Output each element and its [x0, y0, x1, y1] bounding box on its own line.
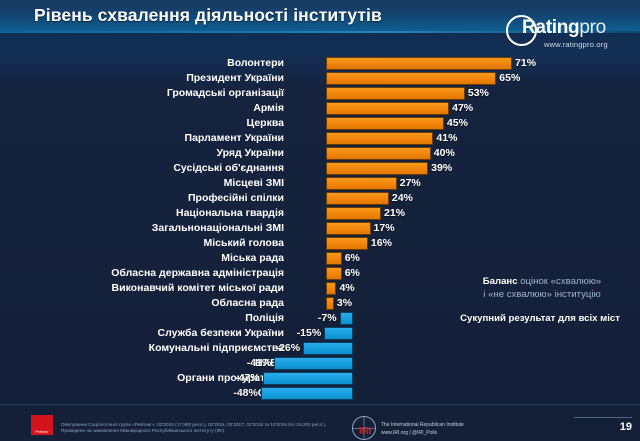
value-label: 40% [434, 146, 455, 160]
chart-row: Служба безпеки України-15% [0, 326, 640, 341]
ratingpro-logo: Ratingpro www.ratingpro.org [500, 14, 632, 52]
category-label: Місцеві ЗМІ [224, 176, 284, 190]
category-label: Комунальні підприємства [149, 341, 284, 355]
category-label: Служба безпеки України [157, 326, 284, 340]
footer: Рейтинг Опитування Соціологічної групи «… [0, 404, 640, 441]
chart-row: Місцеві ЗМІ27% [0, 176, 640, 191]
value-label: 65% [499, 71, 520, 85]
balance-note-strong: Баланс [483, 276, 518, 287]
category-label: Обласна державна адміністрація [111, 266, 284, 280]
bar [274, 357, 353, 370]
bar-chart: Волонтери71%Президент України65%Громадсь… [0, 54, 640, 404]
bar [263, 372, 353, 385]
value-label: -15% [297, 326, 322, 340]
chart-row: Органи прокуратури-47% [0, 371, 640, 386]
value-label: 71% [515, 56, 536, 70]
value-label: 4% [339, 281, 354, 295]
category-label: Міський голова [203, 236, 284, 250]
category-label: Загальнонаціональні ЗМІ [152, 221, 284, 235]
chart-row: Армія47% [0, 101, 640, 116]
bar [326, 147, 431, 160]
chart-row: Уряд України40% [0, 146, 640, 161]
bar [326, 297, 334, 310]
value-label: -48% [233, 386, 258, 400]
bar [326, 177, 397, 190]
chart-row: Громадські організації53% [0, 86, 640, 101]
bar [261, 387, 353, 400]
ratingpro-wordmark: Ratingpro [522, 17, 606, 39]
chart-row: Професійні спілки24% [0, 191, 640, 206]
chart-row: Міська рада6% [0, 251, 640, 266]
bar [324, 327, 353, 340]
category-label: Сусідські об'єднання [173, 161, 284, 175]
value-label: -26% [276, 341, 301, 355]
bar [326, 102, 449, 115]
chart-row: Міський голова16% [0, 236, 640, 251]
value-label: 17% [374, 221, 395, 235]
bar [326, 192, 389, 205]
chart-row: Сусідські об'єднання39% [0, 161, 640, 176]
category-label: Обласна рада [211, 296, 284, 310]
value-label: 27% [400, 176, 421, 190]
aggregate-note: Сукупний результат для всіх міст [440, 313, 640, 324]
bar [326, 72, 496, 85]
category-label: Церква [247, 116, 284, 130]
bar [326, 252, 342, 265]
bar [326, 57, 512, 70]
bar [326, 207, 381, 220]
category-label: Міська рада [221, 251, 284, 265]
slide-number: 19 [584, 421, 632, 433]
ratingpro-wordmark-light: pro [579, 17, 606, 38]
ratingpro-url: www.ratingpro.org [544, 40, 608, 49]
bar [326, 87, 465, 100]
category-label: Парламент України [185, 131, 284, 145]
balance-note-rest: оцінок «схвалюю» [518, 276, 602, 287]
balance-note-line2: і «не схвалюю» інституцію [483, 289, 600, 300]
category-label: Волонтери [227, 56, 284, 70]
category-label: Національна гвардія [176, 206, 284, 220]
category-label: Армія [253, 101, 284, 115]
value-label: 41% [436, 131, 457, 145]
chart-row: НАБУ-41% [0, 356, 640, 371]
chart-row: Президент України65% [0, 71, 640, 86]
category-label: Президент України [186, 71, 284, 85]
value-label: 3% [337, 296, 352, 310]
value-label: 6% [345, 266, 360, 280]
rating-logo-label: Рейтинг [31, 430, 53, 434]
category-label: Громадські організації [167, 86, 284, 100]
bar [326, 282, 336, 295]
chart-row: Загальнонаціональні ЗМІ17% [0, 221, 640, 236]
iri-mark-label: IRI [355, 426, 375, 436]
page-title: Рівень схвалення діяльності інститутів [34, 5, 382, 26]
source-line-1: Опитування Соціологічної групи «Рейтинг»… [61, 422, 326, 428]
bar [326, 237, 368, 250]
value-label: -41% [247, 356, 272, 370]
value-label: 39% [431, 161, 452, 175]
value-label: 21% [384, 206, 405, 220]
value-label: -47% [235, 371, 260, 385]
value-label: 53% [468, 86, 489, 100]
bar [326, 222, 371, 235]
value-label: 16% [371, 236, 392, 250]
slide-number-rule [574, 417, 632, 418]
chart-row: Парламент України41% [0, 131, 640, 146]
value-label: 24% [392, 191, 413, 205]
chart-row: Комунальні підприємства-26% [0, 341, 640, 356]
rating-logo-icon: Рейтинг [31, 415, 53, 435]
balance-note: Баланс оцінок «схвалюю» і «не схвалюю» і… [452, 275, 632, 301]
chart-row: Церква45% [0, 116, 640, 131]
category-label: Поліція [245, 311, 284, 325]
slide-root: Рівень схвалення діяльності інститутів R… [0, 0, 640, 441]
bar [303, 342, 353, 355]
value-label: 47% [452, 101, 473, 115]
bar [326, 267, 342, 280]
chart-row: Національна гвардія21% [0, 206, 640, 221]
iri-url: www.IRI.org | @IRI_Polls [381, 430, 437, 437]
chart-row: Волонтери71% [0, 56, 640, 71]
value-label: -7% [318, 311, 337, 325]
value-label: 45% [447, 116, 468, 130]
source-line-2: Проведене на замовлення Міжнародного Рес… [61, 428, 224, 434]
bar [326, 162, 428, 175]
category-label: Виконавчий комітет міської ради [112, 281, 284, 295]
value-label: 6% [345, 251, 360, 265]
iri-name: The International Republican Institute [381, 422, 464, 429]
category-label: Уряд України [216, 146, 284, 160]
bar [326, 117, 444, 130]
ratingpro-wordmark-bold: Rating [522, 17, 579, 38]
bar [340, 312, 353, 325]
category-label: Професійні спілки [188, 191, 284, 205]
iri-globe-icon: IRI [352, 416, 376, 440]
bar [326, 132, 433, 145]
chart-row: Суди-48% [0, 386, 640, 401]
